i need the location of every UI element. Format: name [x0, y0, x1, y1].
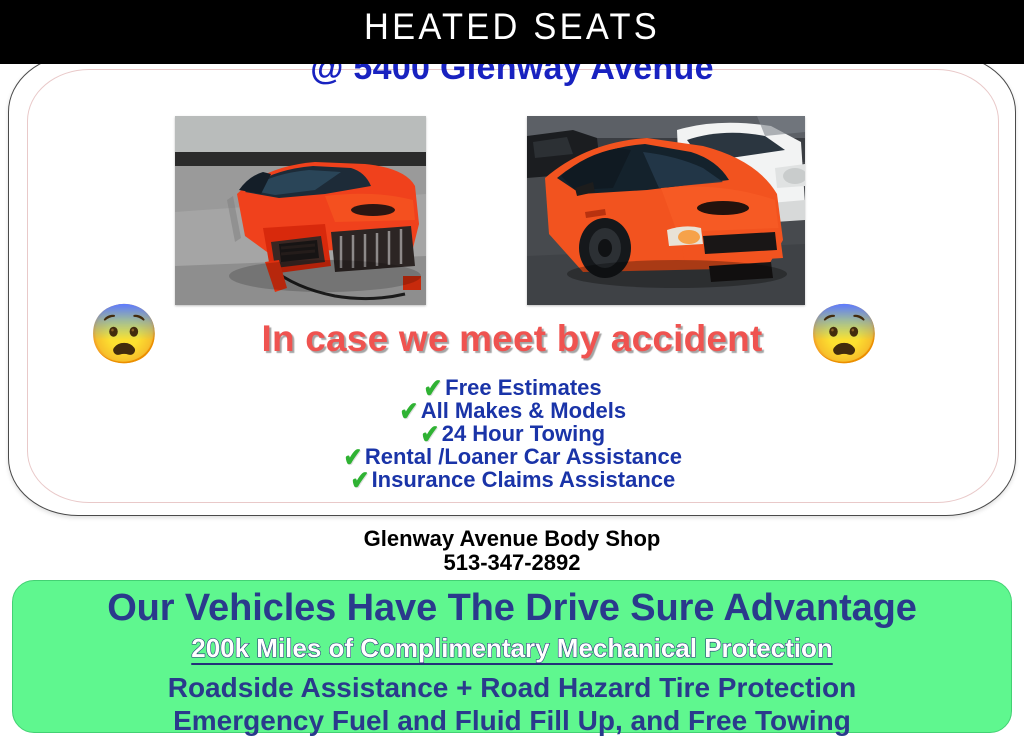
service-label: Free Estimates [445, 375, 602, 400]
services-list: ✔Free Estimates ✔All Makes & Models ✔24 … [0, 375, 1024, 490]
check-icon: ✔ [400, 400, 419, 423]
service-label: All Makes & Models [421, 398, 626, 423]
shop-phone[interactable]: 513-347-2892 [0, 551, 1024, 575]
drive-sure-advantage-box: Our Vehicles Have The Drive Sure Advanta… [12, 580, 1012, 733]
list-item: ✔All Makes & Models [0, 398, 1024, 421]
shocked-face-icon-left: 😨 [88, 306, 160, 364]
service-label: Insurance Claims Assistance [372, 467, 676, 492]
list-item: ✔24 Hour Towing [0, 421, 1024, 444]
list-item: ✔Free Estimates [0, 375, 1024, 398]
shop-contact-block: Glenway Avenue Body Shop 513-347-2892 [0, 527, 1024, 575]
list-item: ✔Rental /Loaner Car Assistance [0, 444, 1024, 467]
advantage-benefit-line-1: Roadside Assistance + Road Hazard Tire P… [13, 671, 1011, 704]
advantage-subhead: 200k Miles of Complimentary Mechanical P… [13, 630, 1011, 666]
check-icon: ✔ [350, 469, 369, 492]
list-item: ✔Insurance Claims Assistance [0, 467, 1024, 490]
feature-banner-title: HEATED SEATS [36, 5, 988, 49]
check-icon: ✔ [424, 377, 443, 400]
service-label: Rental /Loaner Car Assistance [365, 444, 682, 469]
shop-name: Glenway Avenue Body Shop [0, 527, 1024, 551]
advantage-headline: Our Vehicles Have The Drive Sure Advanta… [13, 586, 1011, 630]
shocked-face-icon-right: 😨 [808, 306, 880, 364]
photo-wrecked-vehicle[interactable] [175, 116, 426, 305]
service-label: 24 Hour Towing [442, 421, 605, 446]
advantage-benefit-line-2: Emergency Fuel and Fluid Fill Up, and Fr… [13, 704, 1011, 737]
feature-banner: HEATED SEATS [0, 0, 1024, 64]
photo-repaired-vehicle[interactable] [527, 116, 805, 305]
check-icon: ✔ [421, 423, 440, 446]
